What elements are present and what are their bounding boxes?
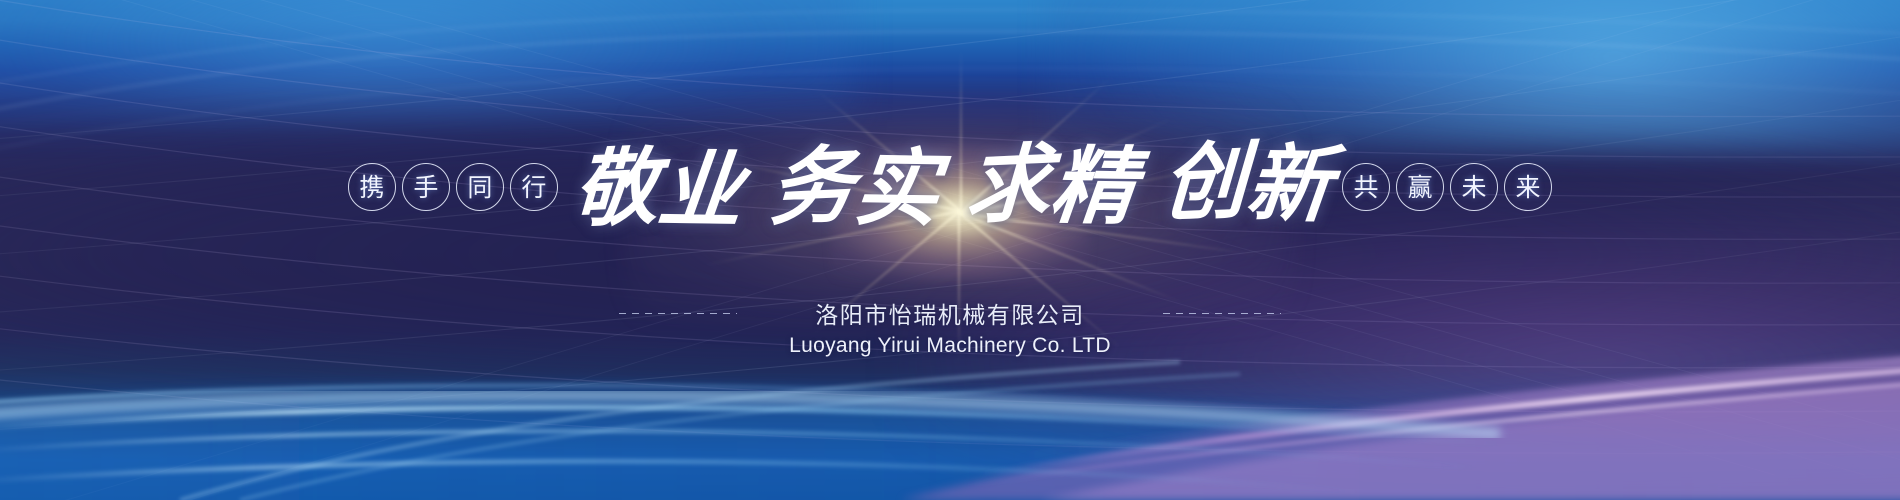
circled-chars-left: 携 手 同 行: [348, 163, 558, 211]
circled-char: 共: [1342, 163, 1390, 211]
calligraphy-char: 新: [1243, 142, 1337, 227]
company-name-cn: 洛阳市怡瑞机械有限公司: [815, 296, 1085, 330]
circled-chars-right: 共 赢 未 来: [1342, 163, 1552, 211]
calligraphy-word: 敬业: [570, 147, 747, 233]
calligraphy-char: 务: [768, 143, 857, 231]
dashed-rule-left: [619, 313, 737, 314]
calligraphy-char: 实: [851, 146, 945, 231]
calligraphy-char: 业: [654, 148, 748, 233]
calligraphy-word: 创新: [1159, 141, 1336, 227]
company-name-en: Luoyang Yirui Machinery Co. LTD: [789, 334, 1111, 358]
circled-char: 来: [1504, 163, 1552, 211]
company-name-row: 洛阳市怡瑞机械有限公司: [0, 296, 1900, 330]
circled-char: 携: [348, 163, 396, 211]
calligraphy-slogan: 敬业 务实 求精 创新: [570, 141, 1335, 233]
calligraphy-char: 敬: [572, 145, 661, 233]
circled-char: 手: [402, 163, 450, 211]
slogan-row: 携 手 同 行 敬业 务实 求精 创新: [0, 132, 1900, 242]
calligraphy-char: 创: [1160, 138, 1249, 226]
calligraphy-word: 务实: [767, 145, 944, 231]
dashed-rule-right: [1163, 313, 1281, 314]
banner-content: 携 手 同 行 敬业 务实 求精 创新: [0, 0, 1900, 500]
calligraphy-char: 精: [1047, 144, 1141, 229]
circled-char: 同: [456, 163, 504, 211]
calligraphy-word: 求精: [963, 143, 1140, 229]
circled-char: 赢: [1396, 163, 1444, 211]
company-culture-banner: 携 手 同 行 敬业 务实 求精 创新: [0, 0, 1900, 500]
calligraphy-char: 求: [964, 141, 1053, 229]
circled-char: 未: [1450, 163, 1498, 211]
circled-char: 行: [510, 163, 558, 211]
company-identity: 洛阳市怡瑞机械有限公司 Luoyang Yirui Machinery Co. …: [0, 296, 1900, 358]
